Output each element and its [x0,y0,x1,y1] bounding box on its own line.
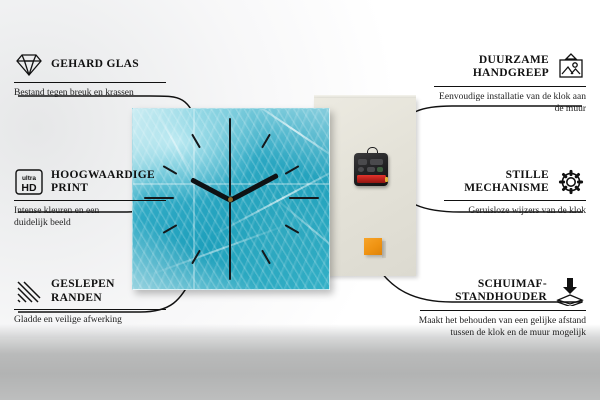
hour-hand [190,178,231,203]
arrow-down-onto-pad-icon [554,276,586,306]
tick-4 [285,224,300,234]
diamond-icon [14,52,44,78]
callout-description: Bestand tegen breuk en krassen [14,87,134,99]
clock-mechanism [354,153,388,186]
tick-6 [229,202,231,280]
battery [357,175,386,183]
callout-rule [444,200,586,201]
mechanism-label [377,167,383,172]
product-photo [126,95,416,285]
callout-ground-edges: GESLEPEN RANDEN Gladde en veilige afwerk… [14,278,166,326]
surface-floor [0,338,600,400]
callout-title: DUURZAME HANDGREEP [434,54,549,81]
mechanism-nub [370,159,383,165]
mechanism-nub [358,159,367,165]
callout-rule [434,86,586,87]
hanging-picture-frame-icon [556,52,586,82]
callout-rule [14,309,166,310]
tick-2 [285,165,300,175]
minute-hand [229,173,279,202]
mechanism-dial [358,167,364,172]
feather-streak [240,108,330,167]
callout-durable-hanger: DUURZAME HANDGREEP Eenvoudige installati… [434,52,586,115]
foam-spacer-shadow [382,241,386,258]
callout-description: Gladde en veilige afwerking [14,314,164,326]
callout-title: GEHARD GLAS [51,58,139,72]
mechanism-nub [367,167,375,172]
callout-high-quality-print: ultra HD HOOGWAARDIGE PRINT Intense kleu… [14,168,166,229]
tick-1 [261,134,271,149]
callout-description: Intense kleuren en een duidelijk beeld [14,205,132,229]
callout-rule [14,200,166,201]
diagonal-lines-icon [14,279,44,305]
callout-title: SCHUIMAF- STANDHOUDER [420,278,547,305]
callout-tempered-glass: GEHARD GLAS Bestand tegen breuk en krass… [14,52,166,99]
callout-foam-stand-holder: SCHUIMAF- STANDHOUDER Maakt het behouden… [420,276,586,339]
tick-5 [261,250,271,265]
gear-icon [556,168,586,196]
callout-title: HOOGWAARDIGE PRINT [51,169,166,196]
callout-title: GESLEPEN RANDEN [51,278,166,305]
callout-description: Eenvoudige installatie van de klok aan d… [434,91,586,115]
callout-description: Geruisloze wijzers van de klok [444,205,586,217]
callout-rule [14,82,166,83]
clock-hub [228,197,233,202]
tick-12 [229,118,231,196]
battery-terminal [385,177,388,182]
foam-spacer [364,238,382,255]
callout-title: STILLE MECHANISME [444,169,549,196]
svg-text:HD: HD [21,182,37,194]
callout-silent-mechanism: STILLE MECHANISME Geruisloze wijzers van… [444,168,586,217]
callout-description: Maakt het behouden van een gelijke afsta… [406,315,586,339]
svg-text:ultra: ultra [22,175,36,182]
ultra-hd-icon: ultra HD [14,168,44,196]
infographic-canvas: GEHARD GLAS Bestand tegen breuk en krass… [0,0,600,400]
callout-rule [420,310,586,311]
tick-3 [289,197,319,199]
